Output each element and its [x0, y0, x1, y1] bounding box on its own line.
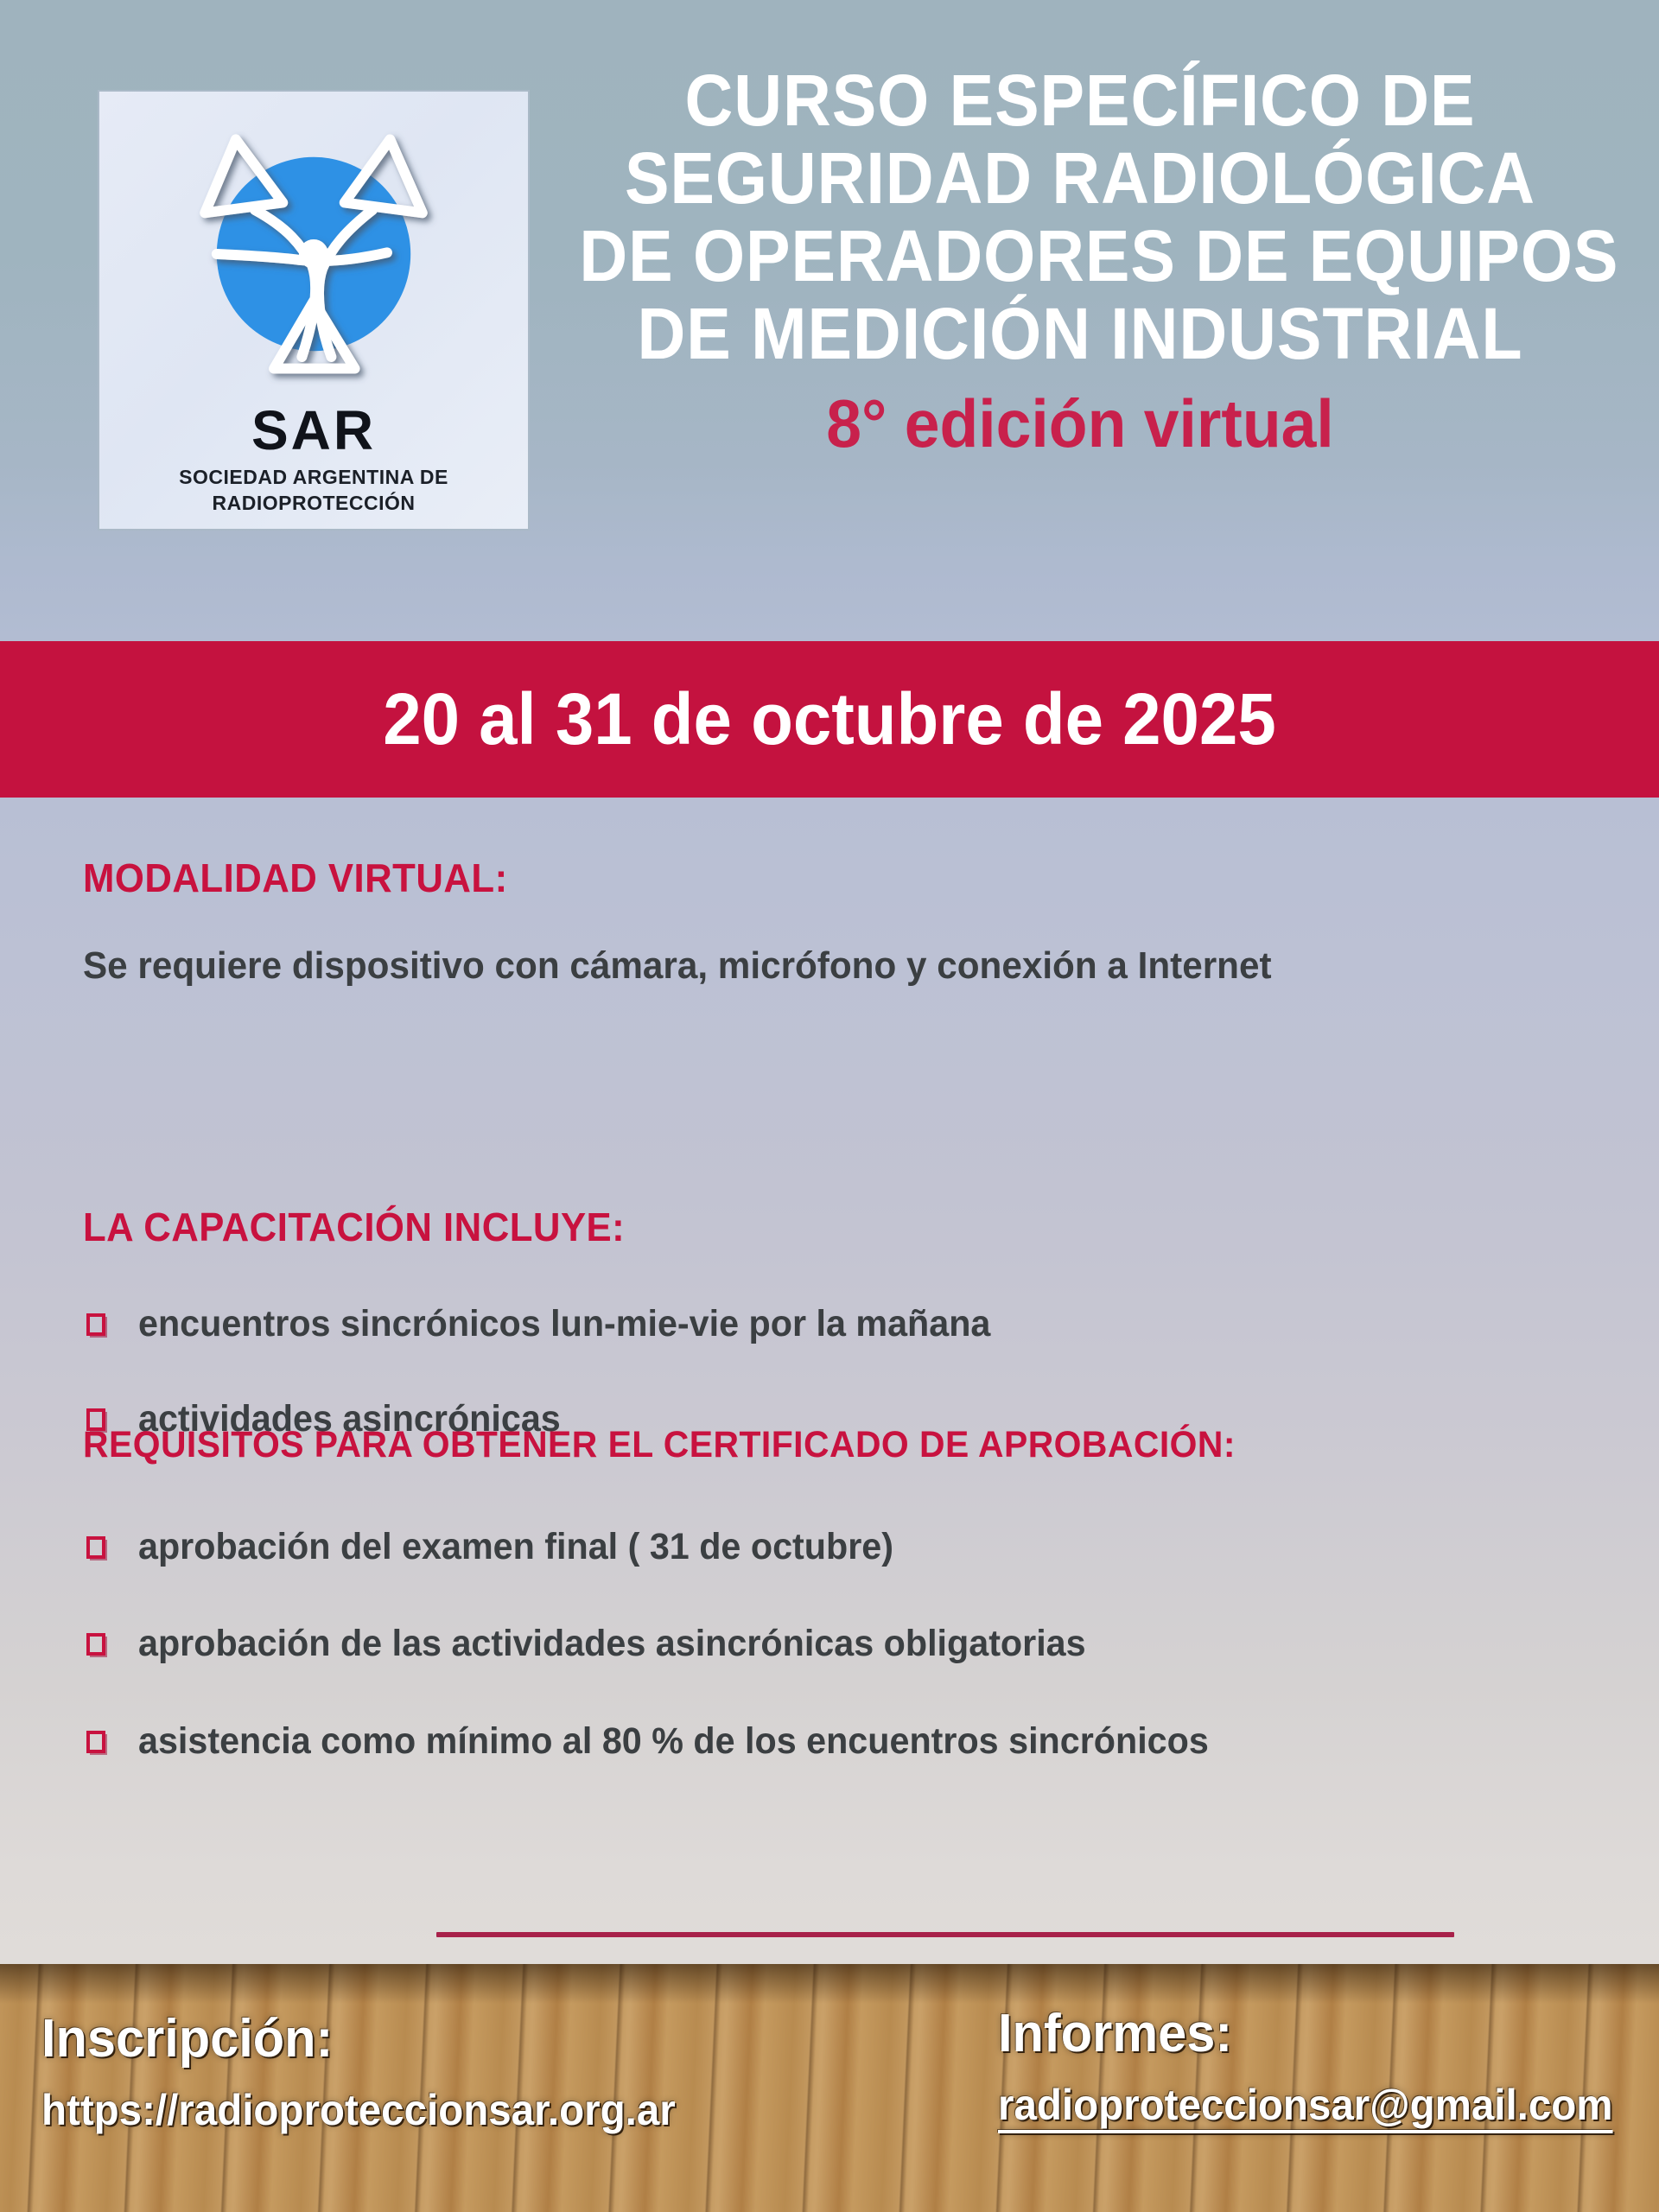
checkbox-square-icon	[86, 1536, 105, 1559]
section-divider	[436, 1932, 1454, 1937]
date-banner: 20 al 31 de octubre de 2025	[0, 641, 1659, 798]
list-item-label: asistencia como mínimo al 80 % de los en…	[138, 1720, 1209, 1763]
date-text: 20 al 31 de octubre de 2025	[383, 677, 1276, 761]
checkbox-square-icon	[86, 1731, 105, 1753]
list-item: encuentros sincrónicos lun-mie-vie por l…	[86, 1303, 1027, 1345]
checkbox-square-icon	[86, 1313, 105, 1336]
modalidad-requirement-text: Se requiere dispositivo con cámara, micr…	[83, 944, 1272, 988]
list-item-label: aprobación del examen final ( 31 de octu…	[138, 1526, 893, 1568]
informes-block: Informes: radioproteccionsar@gmail.com	[998, 2007, 1645, 2126]
edition-label: 8° edición virtual	[569, 389, 1592, 460]
list-item: aprobación de las actividades asincrónic…	[86, 1623, 1125, 1665]
poster-header: SAR Sociedad Argentina de Radioprotecció…	[0, 0, 1659, 641]
poster-title-block: CURSO ESPECÍFICO DE SEGURIDAD RADIOLÓGIC…	[536, 62, 1624, 459]
list-item: aprobación del examen final ( 31 de octu…	[86, 1526, 925, 1568]
title-line-1: CURSO ESPECÍFICO DE	[579, 62, 1580, 140]
list-item-label: encuentros sincrónicos lun-mie-vie por l…	[138, 1303, 990, 1345]
section-heading-modalidad: MODALIDAD VIRTUAL:	[83, 855, 508, 901]
logo-acronym: SAR	[251, 403, 376, 458]
poster-footer: Inscripción: https://radioproteccionsar.…	[0, 1964, 1659, 2212]
logo-fullname-line1: Sociedad Argentina de	[179, 465, 448, 489]
title-line-2: SEGURIDAD RADIOLÓGICA	[579, 140, 1580, 218]
sar-radioprotection-logo-icon	[167, 107, 461, 401]
informes-label: Informes:	[998, 2007, 1619, 2061]
inscripcion-label: Inscripción:	[41, 2012, 682, 2066]
logo-fullname-line2: Radioprotección	[213, 491, 416, 515]
inscripcion-url[interactable]: https://radioproteccionsar.org.ar	[41, 2088, 676, 2132]
inscripcion-block: Inscripción: https://radioproteccionsar.…	[41, 2012, 709, 2132]
list-item: asistencia como mínimo al 80 % de los en…	[86, 1720, 1253, 1763]
footer-top-shadow	[0, 1964, 1659, 2004]
checkbox-square-icon	[86, 1633, 105, 1656]
section-heading-requisitos: REQUISITOS PARA OBTENER EL CERTIFICADO D…	[83, 1424, 1236, 1466]
title-line-3: DE OPERADORES DE EQUIPOS	[579, 218, 1580, 296]
title-line-4: DE MEDICIÓN INDUSTRIAL	[579, 296, 1580, 373]
section-heading-incluye: LA CAPACITACIÓN INCLUYE:	[83, 1204, 625, 1250]
poster-root: SAR Sociedad Argentina de Radioprotecció…	[0, 0, 1659, 2212]
informes-email[interactable]: radioproteccionsar@gmail.com	[998, 2083, 1613, 2126]
list-item-label: aprobación de las actividades asincrónic…	[138, 1623, 1086, 1665]
poster-body: MODALIDAD VIRTUAL: Se requiere dispositi…	[0, 798, 1659, 1964]
sar-logo-tile: SAR Sociedad Argentina de Radioprotecció…	[98, 90, 530, 531]
